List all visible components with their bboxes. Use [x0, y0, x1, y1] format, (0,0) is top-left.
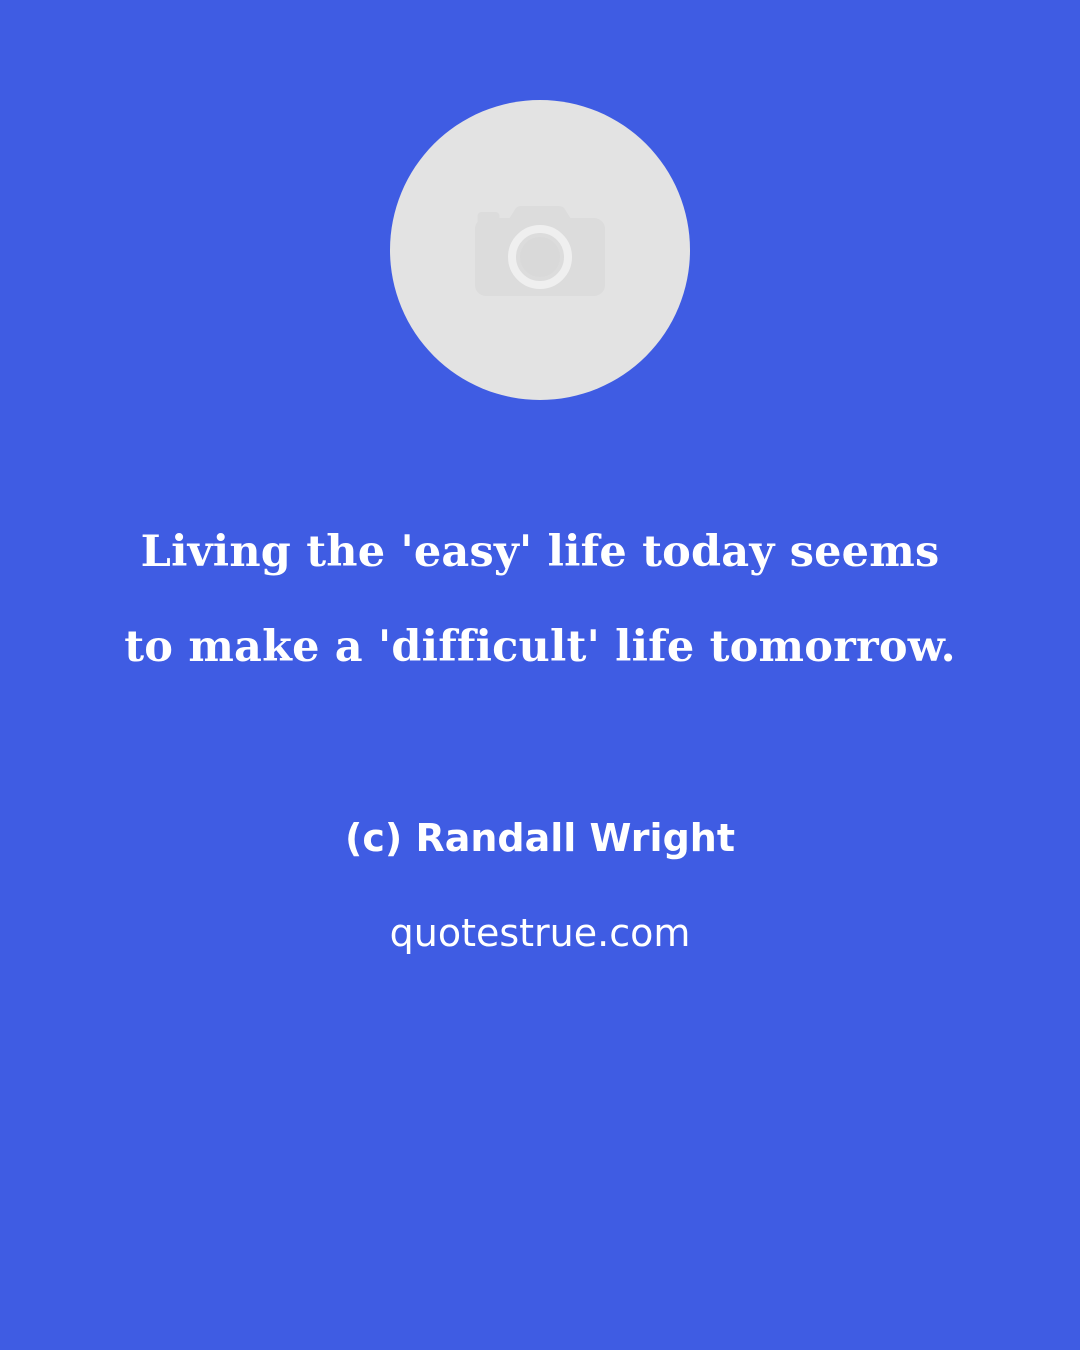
quote-card: Living the 'easy' life today seems to ma… — [0, 0, 1080, 1350]
quote-attribution: (c) Randall Wright — [0, 812, 1080, 864]
camera-icon — [475, 198, 605, 302]
site-name: quotestrue.com — [0, 907, 1080, 959]
avatar — [390, 100, 690, 400]
quote-text: Living the 'easy' life today seems to ma… — [0, 505, 1080, 695]
quote-line-2: to make a 'difficult' life tomorrow. — [70, 600, 1010, 695]
quote-line-1: Living the 'easy' life today seems — [70, 505, 1010, 600]
